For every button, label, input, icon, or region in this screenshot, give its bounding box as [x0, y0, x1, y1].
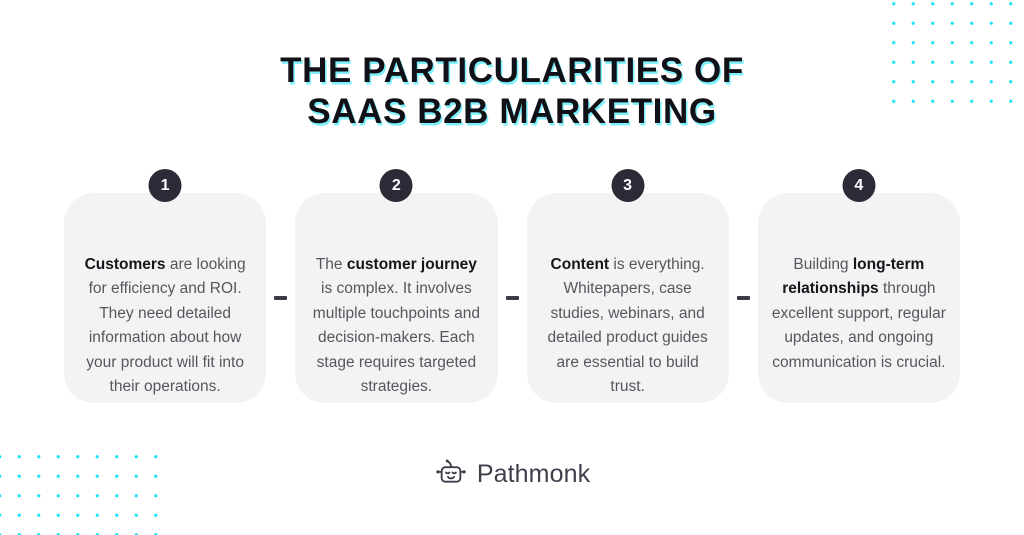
- card-text-emphasis: Content: [551, 256, 610, 273]
- connector-dash-icon: [737, 296, 750, 300]
- card-2: 2The customer journey is complex. It inv…: [295, 193, 497, 403]
- card-4: 4Building long-term relationships throug…: [758, 193, 960, 403]
- card-body: The customer journey is complex. It invo…: [295, 193, 497, 403]
- brand-name: Pathmonk: [477, 460, 590, 489]
- card-number-badge: 4: [842, 169, 875, 202]
- connector-dash-icon: [274, 296, 287, 300]
- card-text-body: are looking for efficiency and ROI. They…: [86, 256, 245, 396]
- card-connector: [266, 193, 295, 403]
- card-number-badge: 3: [611, 169, 644, 202]
- card-text: Customers are looking for efficiency and…: [78, 253, 252, 374]
- title-line-2: SAAS B2B MARKETING: [0, 91, 1024, 132]
- cards-row: 1Customers are looking for efficiency an…: [64, 193, 960, 403]
- card-3: 3Content is everything. Whitepapers, cas…: [527, 193, 729, 403]
- card-text: Building long-term relationships through…: [772, 253, 946, 374]
- footer-logo: Pathmonk: [0, 457, 1024, 491]
- card-text-body: Building: [793, 256, 852, 273]
- connector-dash-icon: [506, 296, 519, 300]
- card-text-body: is complex. It involves multiple touchpo…: [313, 280, 480, 395]
- robot-face-icon: [434, 457, 468, 491]
- page-title: THE PARTICULARITIES OF SAAS B2B MARKETIN…: [0, 50, 1024, 132]
- card-body: Content is everything. Whitepapers, case…: [527, 193, 729, 403]
- card-text-body: is everything. Whitepapers, case studies…: [547, 256, 707, 396]
- card-1: 1Customers are looking for efficiency an…: [64, 193, 266, 403]
- card-number-badge: 2: [380, 169, 413, 202]
- card-text-emphasis: Customers: [85, 256, 166, 273]
- infographic-slide: THE PARTICULARITIES OF SAAS B2B MARKETIN…: [0, 0, 1024, 535]
- title-line-1: THE PARTICULARITIES OF: [0, 50, 1024, 91]
- card-connector: [729, 193, 758, 403]
- card-text: The customer journey is complex. It invo…: [309, 253, 483, 374]
- card-text: Content is everything. Whitepapers, case…: [541, 253, 715, 374]
- card-number-badge: 1: [149, 169, 182, 202]
- card-body: Building long-term relationships through…: [758, 193, 960, 403]
- card-text-emphasis: customer journey: [347, 256, 477, 273]
- card-body: Customers are looking for efficiency and…: [64, 193, 266, 403]
- card-connector: [498, 193, 527, 403]
- card-text-body: The: [316, 256, 347, 273]
